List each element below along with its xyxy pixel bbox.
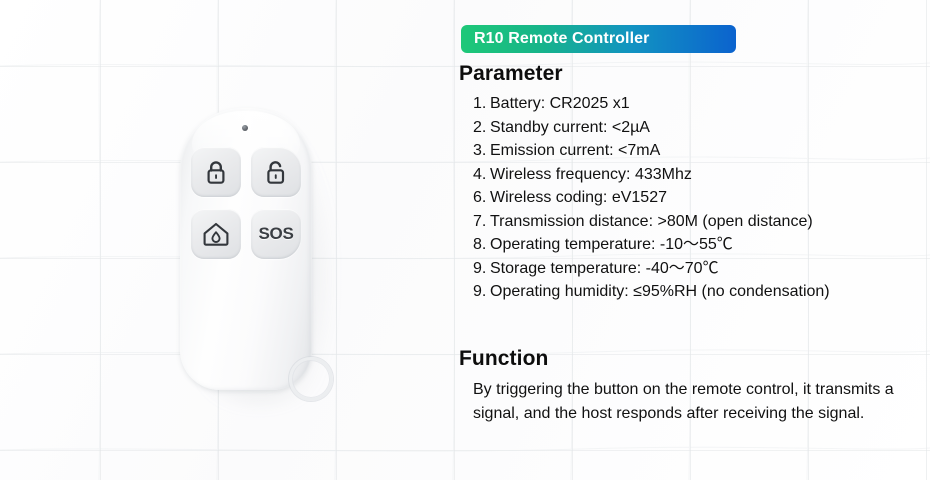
product-title: R10 Remote Controller: [474, 30, 649, 48]
list-item-number: 8.: [473, 233, 490, 257]
list-item-text: Storage temperature: -40〜70℃: [490, 260, 719, 277]
product-image: SOS: [150, 85, 390, 425]
lock-closed-icon: [204, 159, 228, 185]
function-description: By triggering the button on the remote c…: [473, 378, 923, 426]
sos-text-icon: SOS: [258, 224, 293, 244]
list-item-text: Wireless coding: eV1527: [490, 189, 667, 206]
home-droplet-icon: [202, 221, 230, 247]
list-item-text: Standby current: <2µA: [490, 119, 650, 136]
list-item-number: 2.: [473, 116, 490, 140]
list-item-number: 7.: [473, 210, 490, 234]
list-item-text: Emission current: <7mA: [490, 142, 660, 159]
list-item: 9.Operating humidity: ≤95%RH (no condens…: [473, 280, 830, 304]
lock-open-icon: [264, 159, 288, 185]
remote-button-lock: [191, 147, 241, 197]
function-heading: Function: [459, 347, 548, 371]
list-item-number: 1.: [473, 92, 490, 116]
list-item-text: Battery: CR2025 x1: [490, 95, 630, 112]
list-item-number: 9.: [473, 280, 490, 304]
led-indicator: [242, 125, 248, 131]
spec-content: R10 Remote Controller Parameter 1.Batter…: [461, 0, 921, 480]
keyring-loop: [289, 357, 333, 401]
remote-button-home: [191, 209, 241, 259]
remote-button-sos: SOS: [251, 209, 301, 259]
list-item: 3.Emission current: <7mA: [473, 139, 830, 163]
list-item-text: Operating temperature: -10〜55℃: [490, 236, 733, 253]
list-item: 8.Operating temperature: -10〜55℃: [473, 233, 830, 257]
list-item-text: Transmission distance: >80M (open distan…: [490, 213, 813, 230]
list-item-number: 4.: [473, 163, 490, 187]
list-item: 7.Transmission distance: >80M (open dist…: [473, 210, 830, 234]
list-item: 4.Wireless frequency: 433Mhz: [473, 163, 830, 187]
remote-button-unlock: [251, 147, 301, 197]
list-item: 1.Battery: CR2025 x1: [473, 92, 830, 116]
list-item: 6.Wireless coding: eV1527: [473, 186, 830, 210]
product-title-banner: R10 Remote Controller: [461, 25, 736, 53]
list-item-text: Operating humidity: ≤95%RH (no condensat…: [490, 283, 830, 300]
parameter-list: 1.Battery: CR2025 x1 2.Standby current: …: [473, 92, 830, 304]
list-item-number: 9.: [473, 257, 490, 281]
list-item-number: 3.: [473, 139, 490, 163]
list-item: 2.Standby current: <2µA: [473, 116, 830, 140]
list-item-text: Wireless frequency: 433Mhz: [490, 166, 692, 183]
parameter-heading: Parameter: [459, 62, 563, 86]
product-detail-page: SOS R10 Remote Controller Parameter 1.Ba…: [0, 0, 930, 480]
list-item-number: 6.: [473, 186, 490, 210]
list-item: 9.Storage temperature: -40〜70℃: [473, 257, 830, 281]
